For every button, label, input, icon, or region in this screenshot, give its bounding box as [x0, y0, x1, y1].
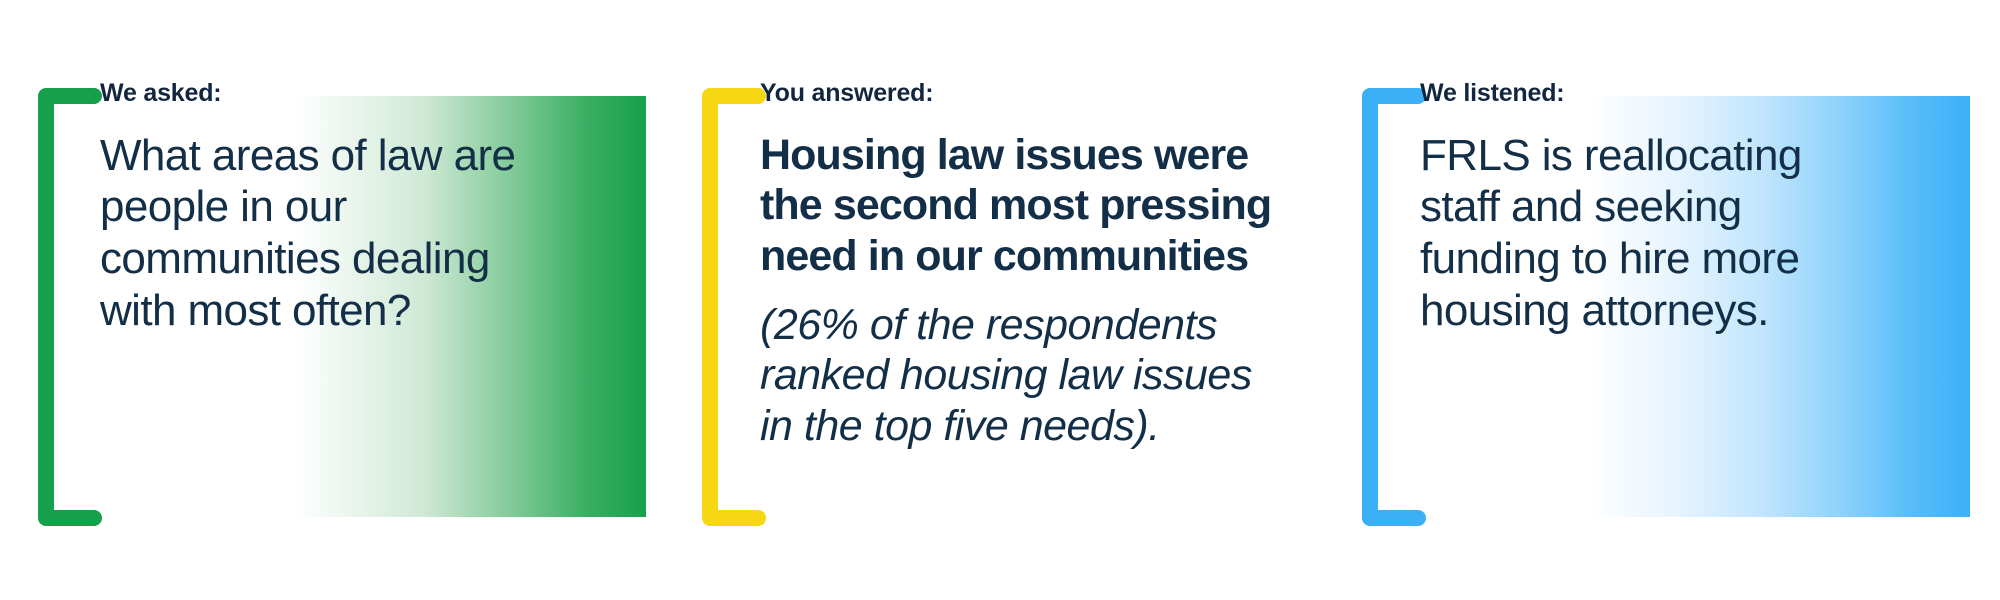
panel-text-block: You answered: Housing law issues were th…	[760, 80, 1280, 452]
panel-we-listened: We listened: FRLS is reallocating staff …	[1324, 0, 1984, 600]
panel-body: Housing law issues were the second most …	[760, 130, 1280, 282]
panel-body: What areas of law are people in our comm…	[100, 130, 520, 338]
panel-note: (26% of the respondents ranked housing l…	[760, 300, 1280, 452]
panel-eyebrow: You answered:	[760, 80, 1280, 108]
panel-we-asked: We asked: What areas of law are people i…	[0, 0, 660, 600]
infographic-canvas: We asked: What areas of law are people i…	[0, 0, 2000, 600]
panel-eyebrow: We asked:	[100, 80, 520, 108]
panel-text-block: We asked: What areas of law are people i…	[100, 80, 520, 337]
panel-text-block: We listened: FRLS is reallocating staff …	[1420, 80, 1890, 337]
left-bracket-icon	[1356, 88, 1426, 526]
left-bracket-icon	[696, 88, 766, 526]
left-bracket-icon	[32, 88, 102, 526]
panel-eyebrow: We listened:	[1420, 80, 1890, 108]
panel-you-answered: You answered: Housing law issues were th…	[664, 0, 1324, 600]
panel-body: FRLS is reallocating staff and seeking f…	[1420, 130, 1890, 338]
